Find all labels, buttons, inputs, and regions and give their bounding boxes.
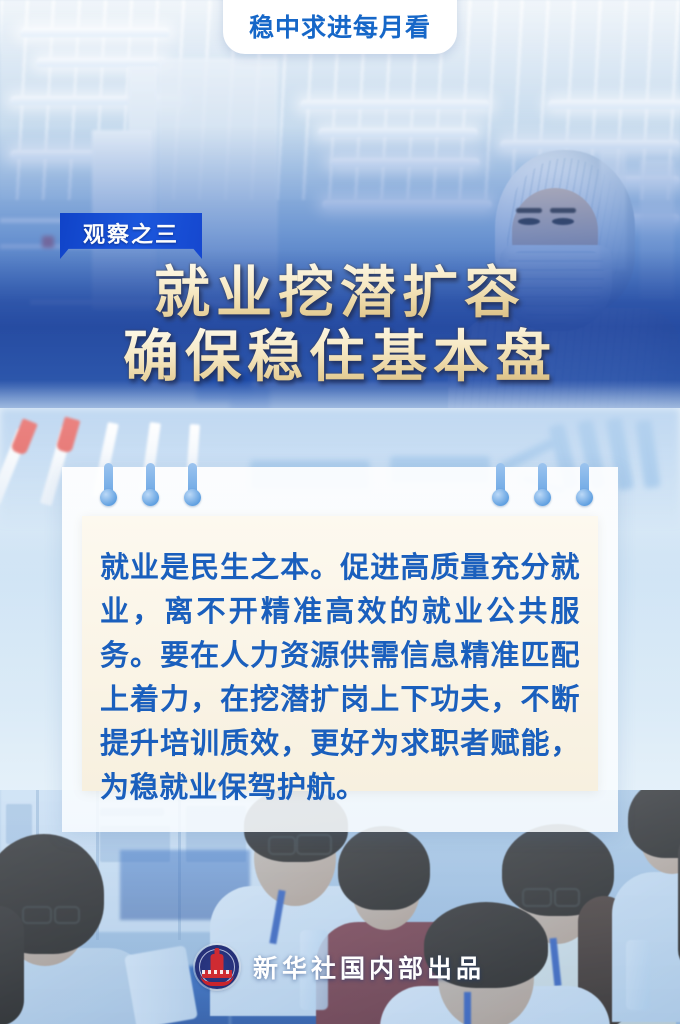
header-badge-label: 稳中求进每月看 xyxy=(249,14,431,42)
xinhua-logo-icon xyxy=(195,945,239,989)
eyeglasses xyxy=(54,906,80,924)
worker-eyebrow xyxy=(550,208,576,213)
eyeglasses xyxy=(268,836,296,855)
eyeglasses xyxy=(296,834,332,855)
ceiling-light xyxy=(548,100,680,109)
footer: 新华社国内部出品 xyxy=(0,938,680,996)
equipment-column xyxy=(600,150,626,270)
attendee-hair xyxy=(338,826,430,910)
footer-agency-label: 新华社国内部出品 xyxy=(253,949,485,985)
ceiling-light xyxy=(500,140,680,149)
worker-eye xyxy=(518,218,540,225)
attendee-hair xyxy=(628,790,680,858)
eyeglasses xyxy=(22,906,52,924)
worker-eye xyxy=(552,218,574,225)
eyeglasses xyxy=(554,888,580,907)
page-title-line-2: 确保稳住基本盘 xyxy=(0,326,680,390)
page-title: 就业挖潜扩容 确保稳住基本盘 xyxy=(0,262,680,390)
worker-eyebrow xyxy=(516,208,542,213)
eyeglasses xyxy=(522,888,552,907)
poster-root: 稳中求进每月看 观察之三 就业挖潜扩容 确保稳住基本盘 就业是民生之本。促进高质… xyxy=(0,0,680,1024)
page-title-line-1: 就业挖潜扩容 xyxy=(0,262,680,326)
series-ribbon-label: 观察之三 xyxy=(60,217,202,249)
ceiling-light xyxy=(300,100,490,109)
header-badge[interactable]: 稳中求进每月看 xyxy=(223,0,457,54)
note-card-body-text: 就业是民生之本。促进高质量充分就业，离不开精准高效的就业公共服务。要在人力资源供… xyxy=(100,546,580,810)
lanyard xyxy=(464,992,471,1024)
ceiling-light xyxy=(20,28,170,37)
red-marker xyxy=(42,236,54,248)
ceiling-light xyxy=(318,128,478,137)
